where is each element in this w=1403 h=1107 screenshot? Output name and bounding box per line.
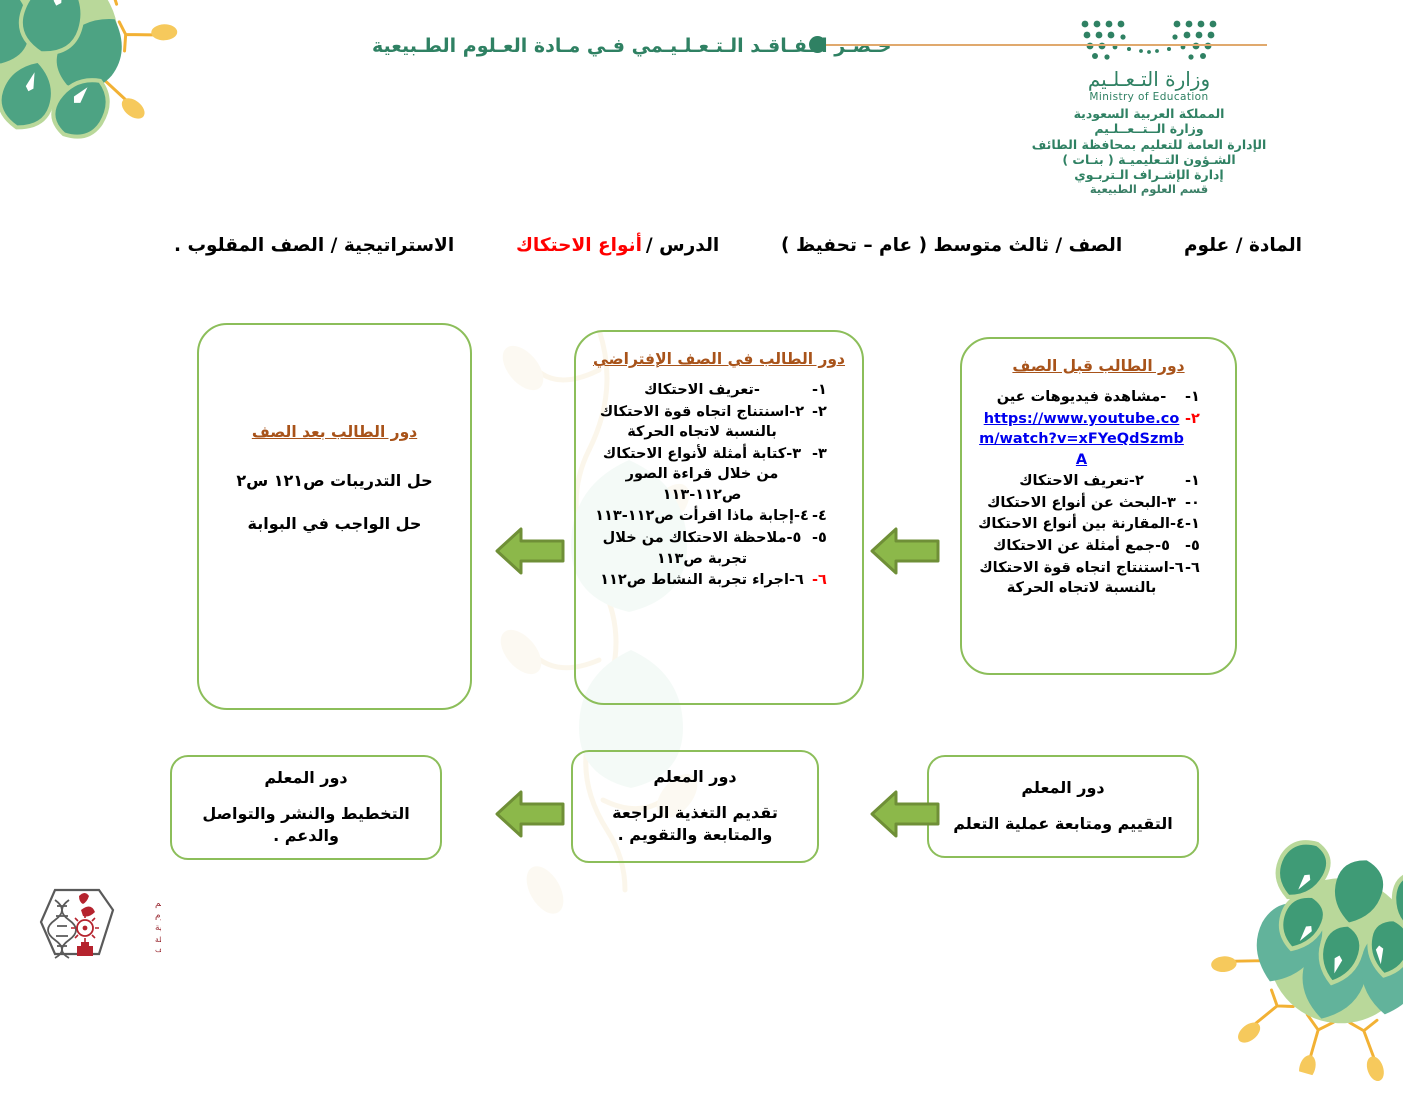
moe-dots-logo-icon <box>1080 18 1220 62</box>
ministry-name-ar: وزارة التـعـلـيم <box>1000 67 1300 91</box>
list-item: ٦- ٦-استنتاج اتجاه قوة الاحتكاك بالنسبة … <box>979 558 1220 599</box>
teacher-role-title: دور المعلم <box>1022 778 1105 797</box>
ministry-department: قسم العلوم الطبيعية <box>1000 182 1300 196</box>
ministry-line-kingdom: المملكة العربية السعودية <box>1000 106 1300 121</box>
teacher-role-body: التقييم ومتابعة عملية التعلم <box>954 813 1174 835</box>
svg-text:الطائف: الطائف <box>156 945 162 954</box>
svg-text:بمحافظة: بمحافظة <box>156 935 162 944</box>
list-marker: ٢- <box>1186 409 1220 430</box>
list-text: -تعريف الاحتكاك <box>593 380 813 401</box>
subject-field: المادة / علوم <box>1185 235 1303 256</box>
list-text: ٥-ملاحظة الاحتكاك من خلال تجربة ص١١٣ <box>593 528 813 569</box>
list-marker: ٢- <box>813 402 847 423</box>
list-marker: ٥- <box>1186 536 1220 557</box>
teacher-role-body: تقديم التغذية الراجعة والمتابعة والتقويم… <box>588 802 804 845</box>
after-class-title: دور الطالب بعد الصف <box>216 423 455 441</box>
list-text: ٥-جمع أمثلة عن الاحتكاك <box>979 536 1186 557</box>
teacher-role-body: التخطيط والنشر والتواصل والدعم . <box>187 803 427 846</box>
youtube-link[interactable]: https://www.youtube.com/watch?v=xFYeQdSz… <box>979 409 1186 471</box>
lesson-header-row: المادة / علوم الصف / ثالث متوسط ( عام – … <box>175 228 1303 262</box>
list-marker: ٤- <box>813 506 847 527</box>
decorative-mandala-top-left <box>0 0 205 195</box>
ministry-line-ministry: وزارة الــتــعــلـيم <box>1000 121 1300 136</box>
list-marker: ٠- <box>1186 493 1220 514</box>
left-arrow-icon <box>494 786 568 842</box>
list-item: ٤- ٤-إجابة ماذا اقرأت ص١١٢-١١٣ <box>593 506 847 527</box>
teacher-role-assessment-box: دور المعلم التقييم ومتابعة عملية التعلم <box>928 755 1200 858</box>
list-marker: ١- <box>1186 514 1220 535</box>
list-text: ٦-اجراء تجربة النشاط ص١١٢ <box>593 570 813 591</box>
teacher-role-feedback-box: دور المعلم تقديم التغذية الراجعة والمتاب… <box>572 750 820 863</box>
list-item: ٦- ٦-اجراء تجربة النشاط ص١١٢ <box>593 570 847 591</box>
left-arrow-icon <box>494 523 568 579</box>
list-item: ١- ٢-تعريف الاحتكاك <box>979 471 1220 492</box>
list-item: ١- -تعريف الاحتكاك <box>593 380 847 401</box>
svg-text:العلوم: العلوم <box>156 911 162 921</box>
list-text: ٢-تعريف الاحتكاك <box>979 471 1186 492</box>
list-marker: ١- <box>1186 387 1220 408</box>
list-item: ٣- ٣-كتابة أمثلة لأنواع الاحتكاك من خلال… <box>593 444 847 506</box>
footer-rule <box>827 44 1268 46</box>
list-text: ٤-المقارنة بين أنواع الاحتكاك <box>979 514 1186 535</box>
list-text: ٢-اسنتناج اتجاه قوة الاحتكاك بالنسبة لات… <box>593 402 813 443</box>
virtual-class-title: دور الطالب في الصف الإفتراضي <box>593 350 847 368</box>
student-role-after-class-box: دور الطالب بعد الصف حل التدريبات ص١٢١ س٢… <box>198 323 473 710</box>
student-role-before-class-box: دور الطالب قبل الصف ١- -مشاهدة فيديوهات … <box>961 337 1238 675</box>
ministry-line-general-admin: الإدارة العامة للتعليم بمحافظة الطائف <box>1000 137 1300 152</box>
list-marker: ٥- <box>813 528 847 549</box>
list-item: ٢- https://www.youtube.com/watch?v=xFYeQ… <box>979 409 1220 471</box>
lesson-label: الدرس / <box>647 235 720 256</box>
list-text: ٤-إجابة ماذا اقرأت ص١١٢-١١٣ <box>593 506 813 527</box>
left-arrow-icon <box>869 786 943 842</box>
left-arrow-icon <box>869 523 943 579</box>
list-marker: ١- <box>813 380 847 401</box>
natural-sciences-dept-logo-icon: قسم العلوم الطبيعية بمحافظة الطائف <box>22 872 162 972</box>
list-marker: ١- <box>1186 471 1220 492</box>
list-marker: ٣- <box>813 444 847 465</box>
grade-field: الصف / ثالث متوسط ( عام – تحفيظ ) <box>782 235 1123 256</box>
list-item: ٢- ٢-اسنتناج اتجاه قوة الاحتكاك بالنسبة … <box>593 402 847 443</box>
after-class-line-2: حل الواجب في البوابة <box>216 514 455 533</box>
decorative-mandala-bottom-right <box>1189 804 1403 1107</box>
teacher-role-title: دور المعلم <box>265 768 348 787</box>
svg-text:الطبيعية: الطبيعية <box>156 923 162 933</box>
list-text: ٣-كتابة أمثلة لأنواع الاحتكاك من خلال قر… <box>593 444 813 506</box>
virtual-class-task-list: ١- -تعريف الاحتكاك ٢- ٢-اسنتناج اتجاه قو… <box>593 380 847 591</box>
list-marker: ٦- <box>1186 558 1220 579</box>
lesson-field: الدرس / أنواع الاحتكاك <box>517 235 720 256</box>
footer-dot <box>810 36 827 53</box>
teacher-role-title: دور المعلم <box>654 767 737 786</box>
ministry-line-educational-affairs: الشـؤون التـعليميـة ( بنـات ) <box>1000 152 1300 167</box>
list-text: -مشاهدة فيديوهات عين <box>979 387 1186 408</box>
before-class-task-list: ١- -مشاهدة فيديوهات عين ٢- https://www.y… <box>979 387 1220 599</box>
list-marker: ٦- <box>813 570 847 591</box>
student-role-virtual-class-box: دور الطالب في الصف الإفتراضي ١- -تعريف ا… <box>575 330 865 705</box>
list-item: ٥- ٥-جمع أمثلة عن الاحتكاك <box>979 536 1220 557</box>
list-text: ٦-استنتاج اتجاه قوة الاحتكاك بالنسبة لات… <box>979 558 1186 599</box>
list-text: ٣-البحث عن أنواع الاحتكاك <box>979 493 1186 514</box>
list-item: ٥- ٥-ملاحظة الاحتكاك من خلال تجربة ص١١٣ <box>593 528 847 569</box>
after-class-line-1: حل التدريبات ص١٢١ س٢ <box>216 471 455 490</box>
teacher-role-planning-box: دور المعلم التخطيط والنشر والتواصل والدع… <box>171 755 443 860</box>
ministry-line-supervision: إدارة الإشـراف الـتربـوي <box>1000 167 1300 182</box>
list-item: ١- -مشاهدة فيديوهات عين <box>979 387 1220 408</box>
list-item: ٠- ٣-البحث عن أنواع الاحتكاك <box>979 493 1220 514</box>
list-item: ١- ٤-المقارنة بين أنواع الاحتكاك <box>979 514 1220 535</box>
lesson-title: أنواع الاحتكاك <box>517 235 643 256</box>
svg-text:قسم: قسم <box>156 899 162 909</box>
ministry-name-en: Ministry of Education <box>1000 91 1300 104</box>
strategy-field: الاستراتيجية / الصف المقلوب . <box>175 235 455 256</box>
before-class-title: دور الطالب قبل الصف <box>979 357 1220 375</box>
